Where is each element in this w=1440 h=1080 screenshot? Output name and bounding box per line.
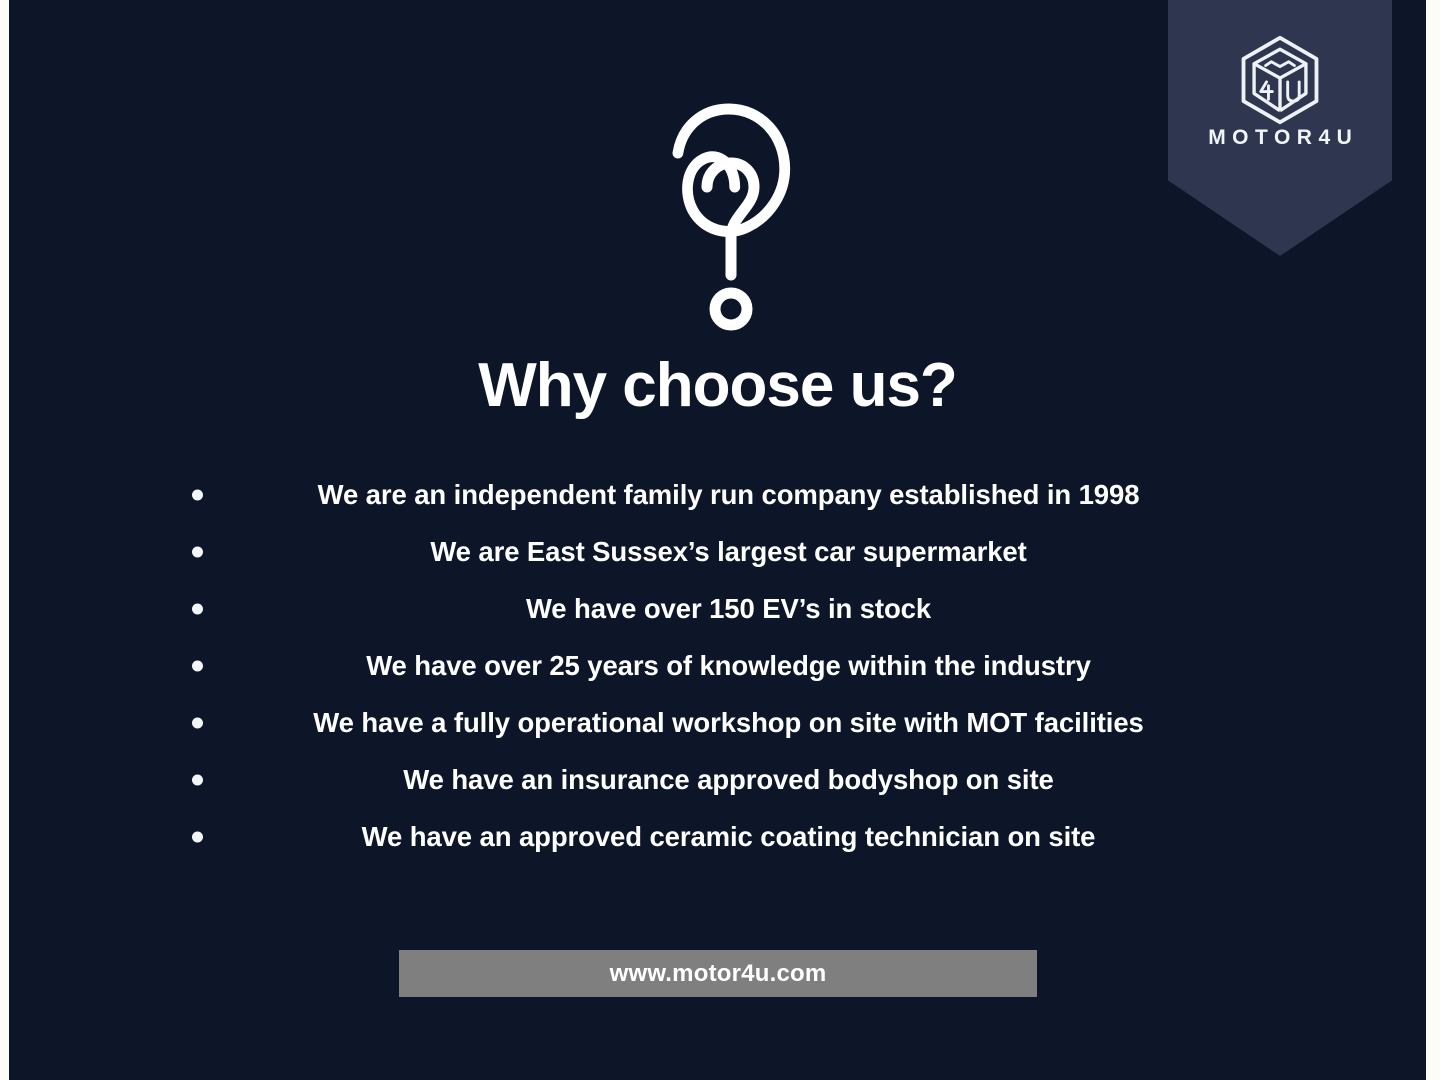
list-item-label: We are East Sussex’s largest car superma… bbox=[408, 536, 1026, 568]
brand-ribbon: MOTOR4U bbox=[1168, 0, 1392, 256]
slide-canvas: MOTOR4U Why choose us? We ar bbox=[9, 0, 1426, 1080]
list-item: We are an independent family run company… bbox=[9, 466, 1426, 523]
bullet-dot-icon bbox=[192, 831, 203, 842]
bullet-dot-icon bbox=[192, 603, 203, 614]
list-item: We have an approved ceramic coating tech… bbox=[9, 808, 1426, 865]
cube-m4u-logo-icon bbox=[1232, 32, 1328, 128]
list-item-label: We have an approved ceramic coating tech… bbox=[340, 821, 1096, 853]
list-item-label: We have an insurance approved bodyshop o… bbox=[381, 764, 1053, 796]
benefits-list: We are an independent family run company… bbox=[9, 466, 1426, 865]
slide-root: MOTOR4U Why choose us? We ar bbox=[0, 0, 1440, 1080]
list-item: We are East Sussex’s largest car superma… bbox=[9, 523, 1426, 580]
list-item: We have over 150 EV’s in stock bbox=[9, 580, 1426, 637]
list-item: We have a fully operational workshop on … bbox=[9, 694, 1426, 751]
list-item-label: We have over 150 EV’s in stock bbox=[504, 593, 931, 625]
bullet-dot-icon bbox=[192, 774, 203, 785]
bullet-dot-icon bbox=[192, 717, 203, 728]
brand-wordmark: MOTOR4U bbox=[1168, 126, 1392, 150]
list-item-label: We have a fully operational workshop on … bbox=[291, 707, 1143, 739]
page-title: Why choose us? bbox=[9, 355, 1426, 417]
list-item: We have over 25 years of knowledge withi… bbox=[9, 637, 1426, 694]
bullet-dot-icon bbox=[192, 489, 203, 500]
bullet-dot-icon bbox=[192, 546, 203, 557]
website-banner[interactable]: www.motor4u.com bbox=[399, 950, 1037, 997]
list-item-label: We have over 25 years of knowledge withi… bbox=[344, 650, 1091, 682]
bullet-dot-icon bbox=[192, 660, 203, 671]
list-item: We have an insurance approved bodyshop o… bbox=[9, 751, 1426, 808]
website-url-label: www.motor4u.com bbox=[610, 960, 827, 988]
question-mark-icon bbox=[645, 95, 815, 340]
list-item-label: We are an independent family run company… bbox=[296, 479, 1140, 511]
